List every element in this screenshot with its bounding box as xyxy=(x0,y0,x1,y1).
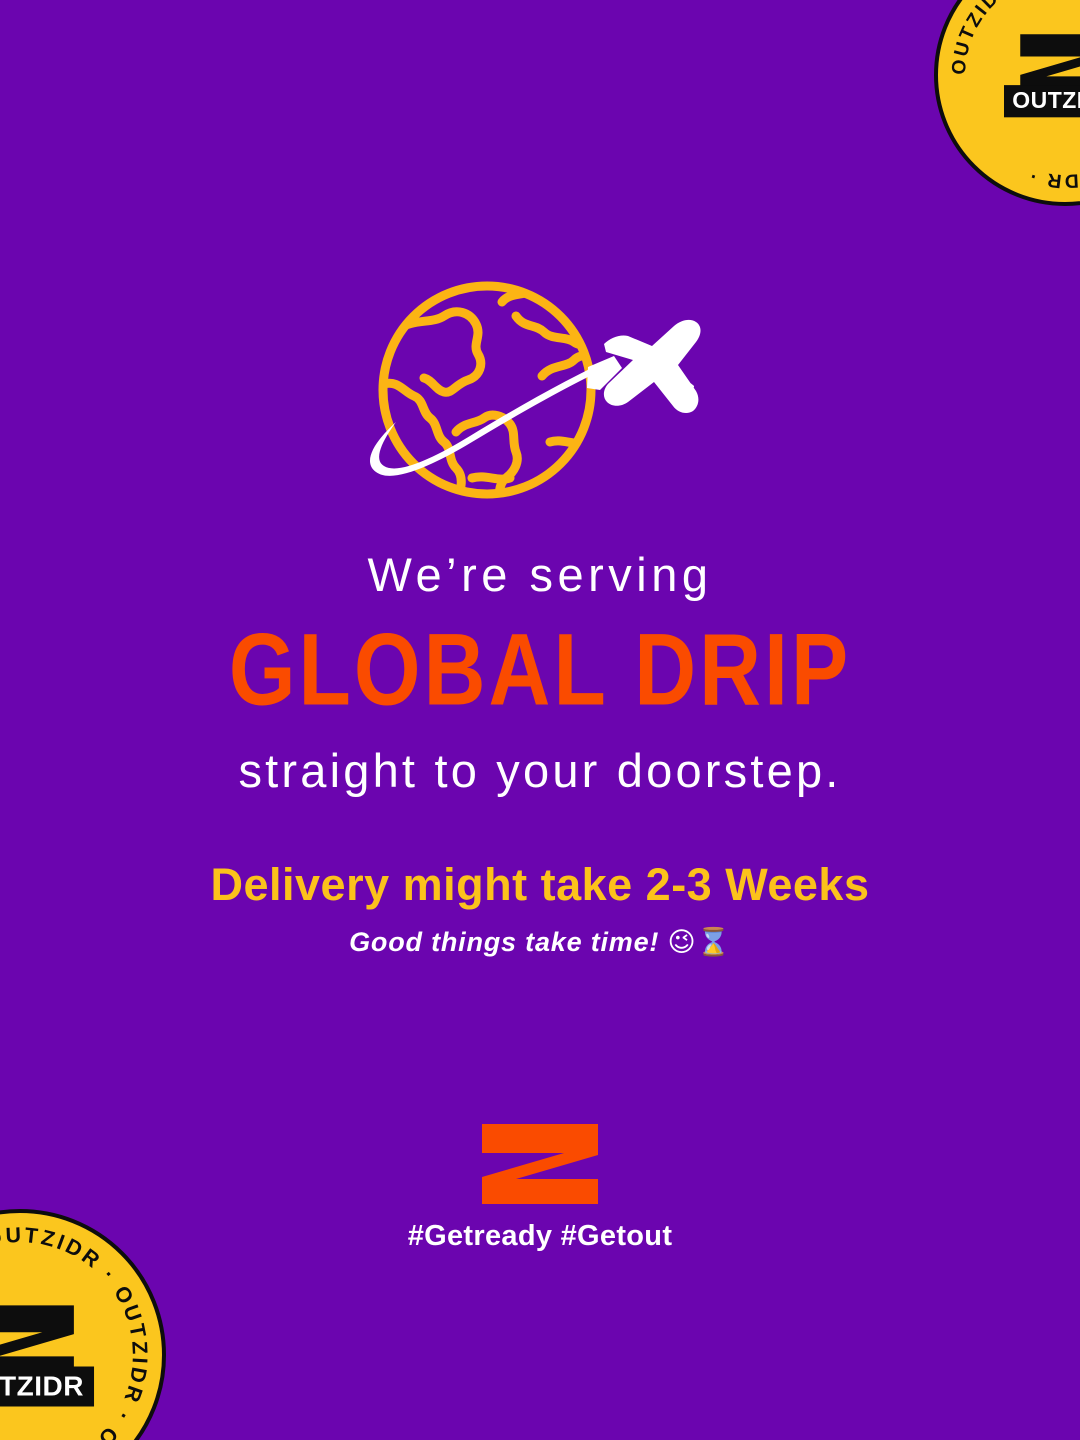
wink-hourglass-emoji: 😉⌛ xyxy=(668,927,731,958)
subline: straight to your doorstep. xyxy=(0,744,1080,798)
page-title: GLOBAL DRIP xyxy=(0,618,1080,720)
delivery-note: Delivery might take 2-3 Weeks xyxy=(0,860,1080,910)
globe-continents xyxy=(384,287,607,508)
promo-poster: We’re serving GLOBAL DRIP straight to yo… xyxy=(0,0,1080,1440)
outzidr-sticker-top-right: OUTZIDR · OUTZIDR · OUTZIDR · OUTZIDR · … xyxy=(934,0,1080,206)
copy-block: We’re serving GLOBAL DRIP straight to yo… xyxy=(0,548,1080,959)
eyebrow-line: We’re serving xyxy=(0,548,1080,602)
badge-wordmark-top-right: OUTZIDR xyxy=(1004,85,1080,117)
airplane-icon xyxy=(587,320,701,413)
hashtags: #Getready #Getout xyxy=(0,1220,1080,1253)
badge-core-top-right: OUTZIDR xyxy=(1004,33,1080,118)
badge-wordmark-bottom-left: OUTZIDR xyxy=(0,1367,94,1407)
globe-with-airplane-illustration xyxy=(352,272,724,520)
tagline-text: Good things take time! xyxy=(349,927,659,957)
footer-lockup: #Getready #Getout xyxy=(0,1122,1080,1253)
outzidr-sticker-bottom-left: OUTZIDR · OUTZIDR · OUTZIDR · OUTZIDR · … xyxy=(0,1209,166,1440)
outzidr-z-logo xyxy=(478,1122,602,1206)
tagline: Good things take time! 😉⌛ xyxy=(0,926,1080,959)
badge-core-bottom-left: OUTZIDR xyxy=(0,1304,94,1407)
